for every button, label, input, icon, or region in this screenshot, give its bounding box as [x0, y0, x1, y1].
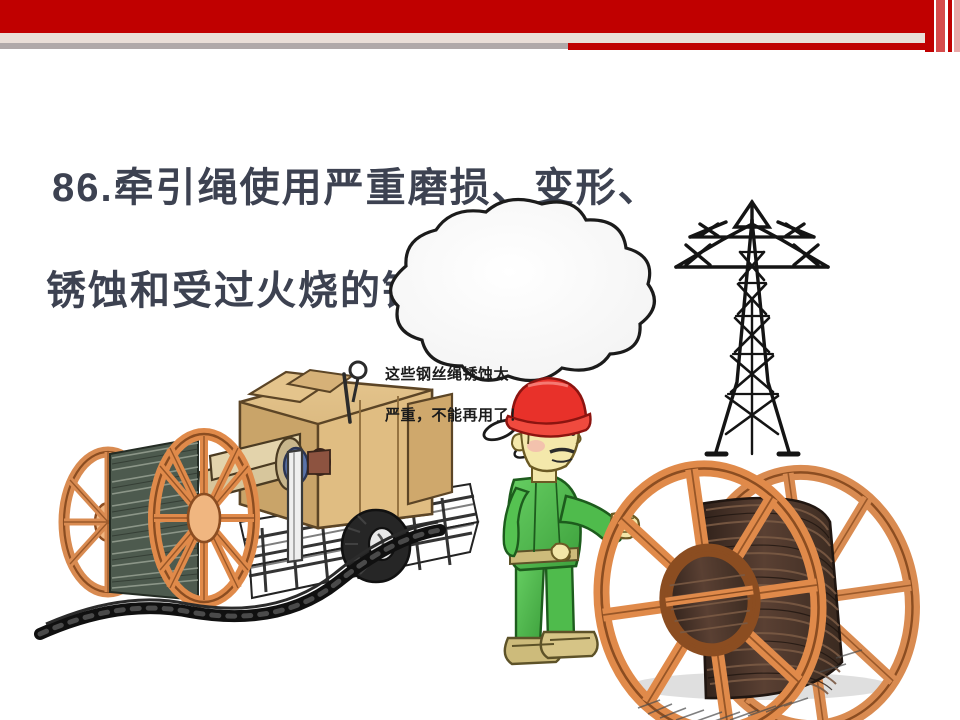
slide-canvas: 86.牵引绳使用严重磨损、变形、 锈蚀和受过火烧的钢丝绳 — [0, 0, 960, 720]
illustration-artwork: 这些钢丝绳锈蚀太 严重，不能再用了！ — [0, 52, 960, 720]
header-red-lower-band — [568, 43, 960, 50]
winch-reel-front — [154, 434, 254, 602]
header-banner — [0, 0, 960, 52]
header-red-band — [0, 0, 960, 33]
header-vertical-stripe-7 — [954, 0, 960, 52]
header-beige-band — [0, 33, 960, 43]
thought-bubble-line-1: 这些钢丝绳锈蚀太 — [385, 365, 595, 385]
header-vertical-stripe-3 — [936, 0, 945, 52]
transmission-tower-icon — [676, 202, 828, 454]
header-vertical-stripe-1 — [925, 0, 934, 52]
thought-bubble-line-2: 严重，不能再用了！ — [385, 406, 595, 426]
support-post — [288, 450, 302, 562]
thought-bubble-text: 这些钢丝绳锈蚀太 严重，不能再用了！ — [385, 345, 595, 446]
cable-drum — [585, 454, 929, 720]
